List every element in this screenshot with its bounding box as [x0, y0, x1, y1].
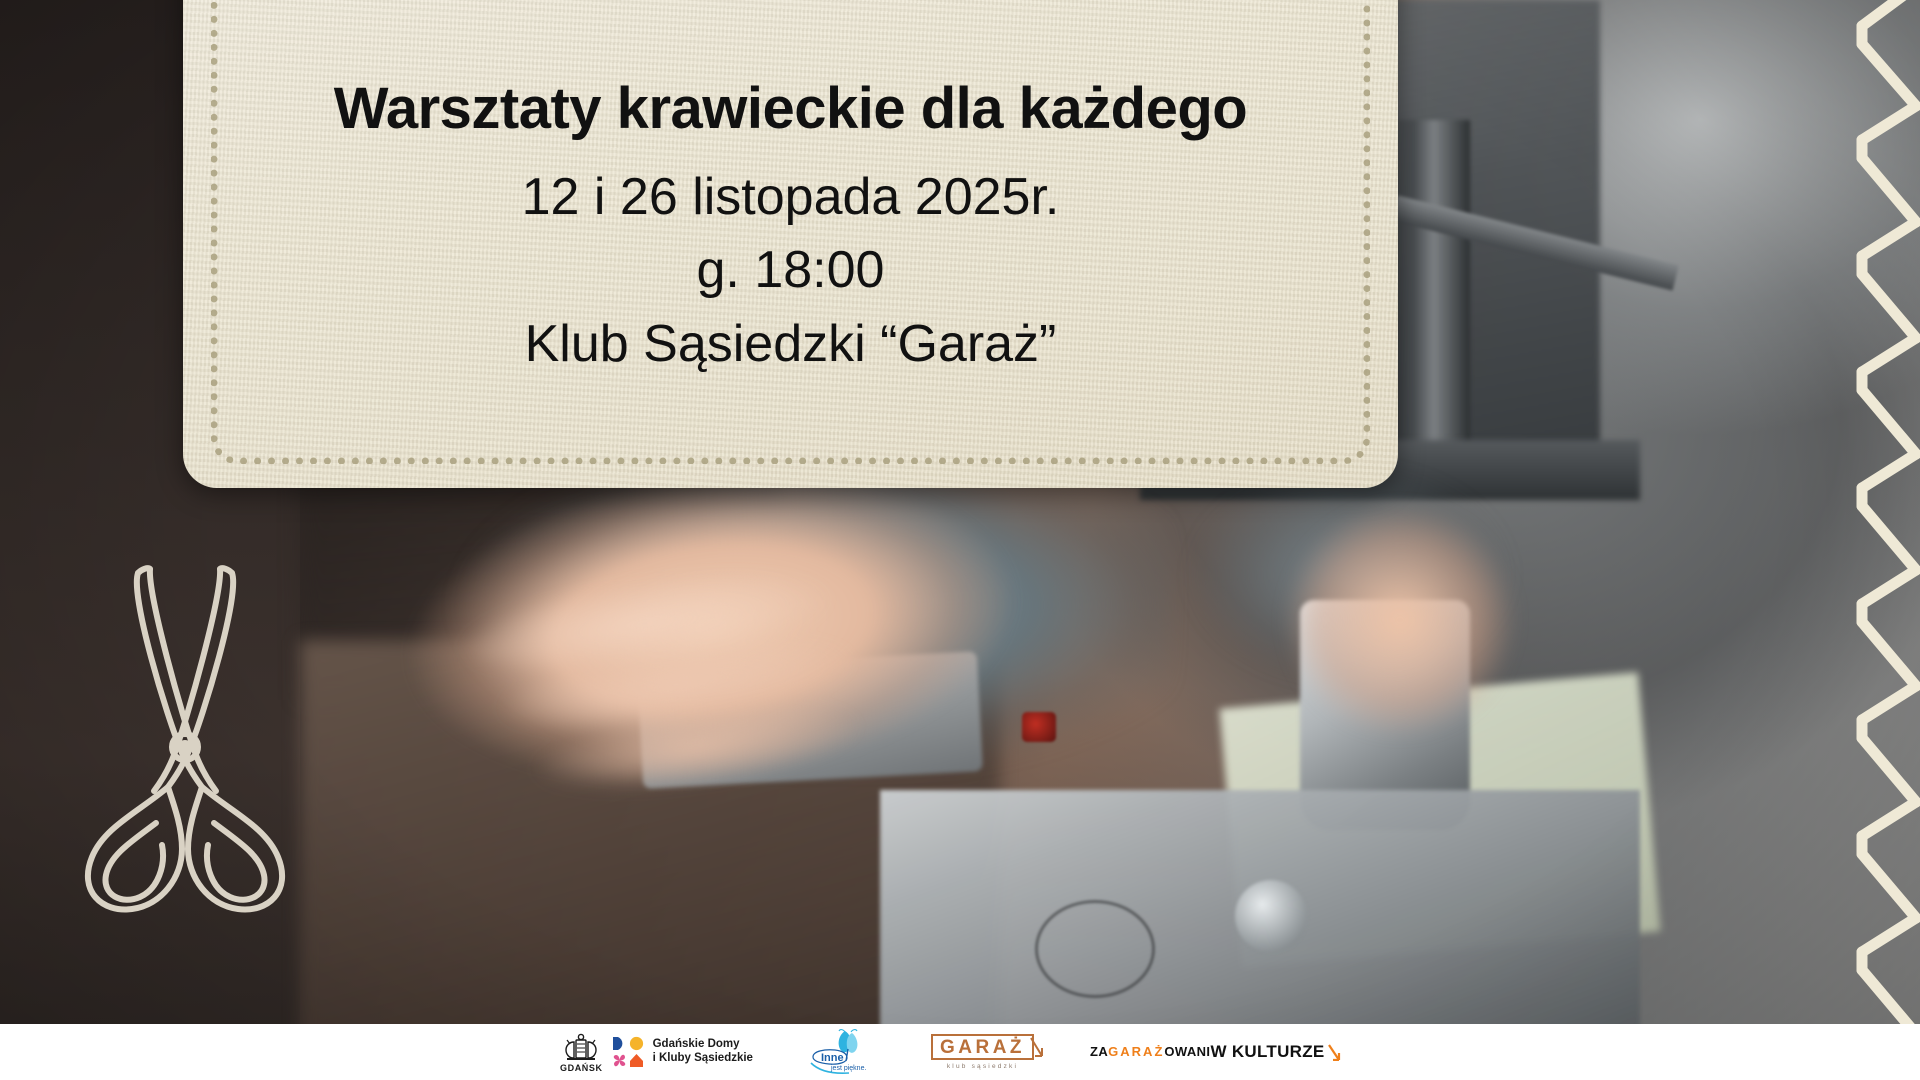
poster-place: Klub Sąsiedzki “Garaż”	[183, 308, 1398, 382]
machine-red-indicator	[1022, 712, 1056, 742]
gdanskie-domy-line1: Gdańskie Domy	[653, 1038, 753, 1052]
sewing-machine-needle-bar	[1390, 120, 1470, 480]
zagarazowani-prefix: ZA	[1090, 1044, 1108, 1059]
zagarazowani-suffix: OWANI	[1164, 1044, 1210, 1059]
poster-root: Warsztaty krawieckie dla każdego 12 i 26…	[0, 0, 1920, 1080]
svg-text:Inne: Inne	[821, 1052, 844, 1064]
person-hand-right	[1270, 490, 1530, 750]
zagarazowani-line2-row: W KULTURZE	[1210, 1042, 1340, 1061]
garaz-wordmark: GARAŻ	[940, 1038, 1025, 1057]
gdanskie-domy-text: Gdańskie Domy i Kluby Sąsiedzkie	[653, 1038, 753, 1065]
card-text-block: Warsztaty krawieckie dla każdego 12 i 26…	[183, 78, 1398, 382]
corner-slash-icon	[1030, 1037, 1043, 1057]
gdanskie-domy-line2: i Kluby Sąsiedzkie	[653, 1052, 753, 1066]
svg-text:jest piękne.: jest piękne.	[830, 1065, 866, 1072]
blue-half-circle-icon	[612, 1036, 627, 1051]
zigzag-stitch-icon	[1828, 0, 1920, 1024]
zagarazowani-line2: W KULTURZE	[1210, 1042, 1324, 1061]
garaz-subtitle: klub sąsiedzki	[931, 1063, 1034, 1070]
gdansk-crest-icon: GDAŃSK	[560, 1032, 603, 1073]
machine-dial	[1235, 880, 1307, 952]
yellow-circle-icon	[629, 1036, 644, 1051]
scissors-icon	[70, 565, 300, 915]
orange-house-icon	[629, 1053, 644, 1068]
logo-zagarazowani-w-kulturze: ZAGARAŻOWANI W KULTURZE	[1090, 1042, 1341, 1061]
poster-title: Warsztaty krawieckie dla każdego	[183, 78, 1398, 141]
gdanskie-domy-icon-grid	[612, 1036, 644, 1068]
logo-garaz-klub-sasiedzki: GARAŻ klub sąsiedzki	[931, 1034, 1034, 1070]
orange-slash-icon	[1328, 1044, 1341, 1061]
zagarazowani-line1: ZAGARAŻOWANI	[1090, 1045, 1210, 1060]
logo-inne-jest-piekne: Inne jest piękne.	[809, 1029, 875, 1075]
blue-butterfly-icon: Inne jest piękne.	[809, 1029, 875, 1075]
zagarazowani-accent: GARAŻ	[1108, 1044, 1164, 1059]
machine-stamp-marking	[1035, 900, 1155, 998]
poster-date: 12 i 26 listopada 2025r.	[183, 161, 1398, 235]
gdansk-crest-label: GDAŃSK	[560, 1063, 603, 1073]
pink-pinwheel-icon	[612, 1053, 627, 1068]
logo-gdanskie-domy: GDAŃSK	[560, 1032, 753, 1073]
footer-logo-bar: GDAŃSK	[0, 1024, 1920, 1080]
announcement-card: Warsztaty krawieckie dla każdego 12 i 26…	[183, 0, 1398, 488]
garaz-box: GARAŻ	[931, 1034, 1034, 1060]
gdansk-coat-of-arms-icon	[561, 1032, 601, 1062]
poster-time: g. 18:00	[183, 234, 1398, 308]
